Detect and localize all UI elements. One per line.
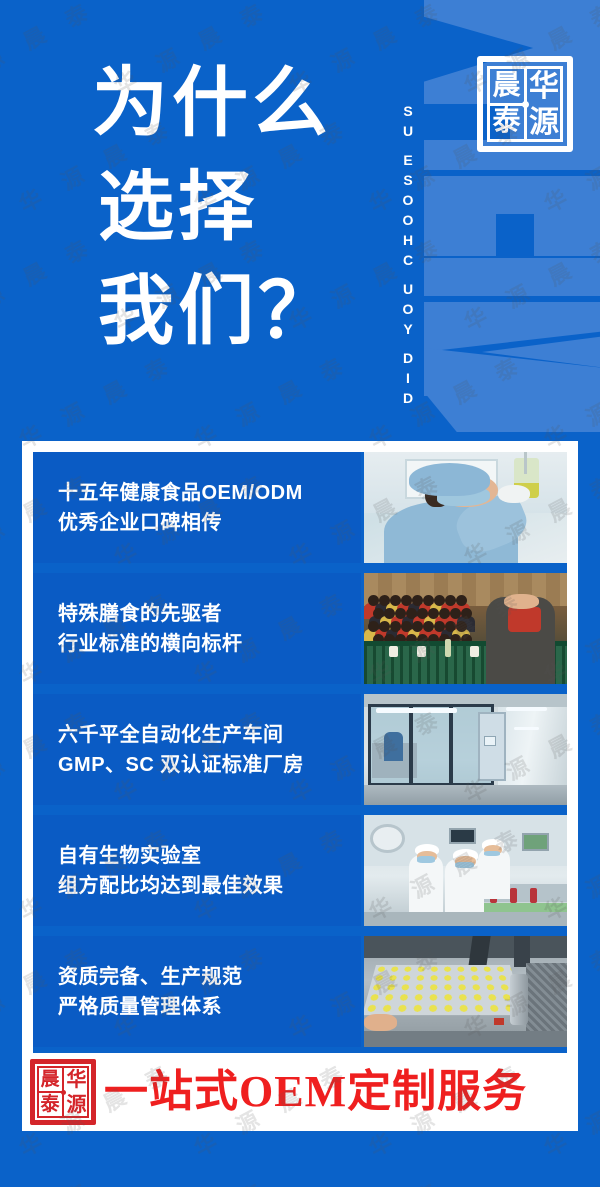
headline-line-3: 我们？ [92,260,392,364]
feature-line-2: 严格质量管理体系 [58,992,361,1022]
seal-char-chen: 晨 [490,72,523,100]
watermark-text: 华 源 晨 泰 [283,1171,452,1187]
feature-line-1: 资质完备、生产规范 [58,962,361,992]
feature-line-2: 行业标准的横向标杆 [58,629,361,659]
cleanroom-corridor-photo [364,694,567,805]
seal-char-hua: 华 [65,1070,88,1090]
why-letter-h-stroke-3 [534,214,600,256]
photo-canvas [364,815,567,926]
company-seal-icon: 华 源 晨 泰 [477,56,573,152]
why-letter-h-stroke-4 [424,258,600,296]
footer-slogan: 一站式OEM定制服务 [104,1068,527,1116]
vertical-caption-letter [398,141,418,150]
feature-text-box: 资质完备、生产规范 严格质量管理体系 [33,936,361,1047]
photo-canvas [364,936,567,1047]
feature-list: 十五年健康食品OEM/ODM 优秀企业口碑相传 特殊膳食的先驱者 行业标准的横向… [33,452,567,1057]
feature-row[interactable]: 六千平全自动化生产车间 GMP、SC 双认证标准厂房 [33,694,567,805]
vertical-caption-letter: O [398,299,418,319]
photo-canvas [364,694,567,805]
hero-section: 为什么 选择 我们？ DIDYOUCHOOSEUS 华 源 晨 泰 [0,0,600,440]
vertical-caption-letter: O [398,210,418,230]
feature-line-1: 特殊膳食的先驱者 [58,599,361,629]
vertical-caption-letter: D [398,388,418,408]
vertical-caption-letter: E [398,150,418,170]
vertical-caption-letter [398,339,418,348]
seal-char-yuan: 源 [527,108,561,138]
why-letter-w-stroke-1 [424,0,600,48]
vertical-caption-letter: I [398,368,418,388]
feature-text-box: 六千平全自动化生产车间 GMP、SC 双认证标准厂房 [33,694,361,805]
feature-text-box: 自有生物实验室 组方配比均达到最佳效果 [33,815,361,926]
seal-char-yuan: 源 [65,1095,88,1115]
blister-packing-machine-photo [364,936,567,1047]
feature-line-1: 六千平全自动化生产车间 [58,720,361,750]
feature-row[interactable]: 资质完备、生产规范 严格质量管理体系 [33,936,567,1047]
why-letter-y-stroke-4 [424,392,600,432]
poster-root: 为什么 选择 我们？ DIDYOUCHOOSEUS 华 源 晨 泰 十五年健康食… [0,0,600,1187]
conference-audience-photo [364,573,567,684]
feature-line-2: GMP、SC 双认证标准厂房 [58,750,361,780]
lab-technician-photo [364,452,567,563]
why-letter-h-stroke-1 [424,176,600,214]
vertical-caption-letter: D [398,348,418,368]
headline-line-1: 为什么 [92,52,392,156]
footer-banner: 华 源 晨 泰 一站式OEM定制服务 [22,1053,578,1131]
watermark-text: 华 源 晨 泰 [0,1171,102,1187]
vertical-caption-letter: C [398,250,418,270]
seal-horizontal-divider [39,1091,62,1093]
vertical-caption-letter [398,270,418,279]
vertical-caption-letter: H [398,230,418,250]
seal-char-chen: 晨 [39,1070,61,1089]
feature-row[interactable]: 十五年健康食品OEM/ODM 优秀企业口碑相传 [33,452,567,563]
feature-text-box: 特殊膳食的先驱者 行业标准的横向标杆 [33,573,361,684]
feature-line-2: 优秀企业口碑相传 [58,508,361,538]
watermark-text: 华 源 晨 泰 [108,1171,277,1187]
production-line-workers-photo [364,815,567,926]
company-seal-icon-red: 华 源 晨 泰 [30,1059,96,1125]
seal-char-tai: 泰 [39,1095,61,1114]
seal-char-hua: 华 [527,72,561,102]
feature-text-box: 十五年健康食品OEM/ODM 优秀企业口碑相传 [33,452,361,563]
vertical-caption-letter: U [398,121,418,141]
why-letter-h-stroke-2 [424,214,496,256]
headline-line-2: 选择 [92,156,392,260]
feature-line-2: 组方配比均达到最佳效果 [58,871,361,901]
feature-line-1: 十五年健康食品OEM/ODM [58,478,361,508]
vertical-caption-letter: S [398,101,418,121]
page-title: 为什么 选择 我们？ [92,52,392,364]
vertical-caption-letter: S [398,170,418,190]
feature-row[interactable]: 特殊膳食的先驱者 行业标准的横向标杆 [33,573,567,684]
vertical-caption-letter: Y [398,319,418,339]
seal-char-tai: 泰 [490,108,523,136]
vertical-caption-letter: U [398,279,418,299]
watermark-text: 华 源 晨 泰 [458,1171,600,1187]
feature-line-1: 自有生物实验室 [58,841,361,871]
vertical-english-caption: DIDYOUCHOOSEUS [395,8,421,408]
vertical-caption-letter: O [398,190,418,210]
photo-canvas [364,452,567,563]
feature-row[interactable]: 自有生物实验室 组方配比均达到最佳效果 [33,815,567,926]
seal-center-dot [522,101,529,108]
photo-canvas [364,573,567,684]
seal-center-dot [61,1090,66,1095]
